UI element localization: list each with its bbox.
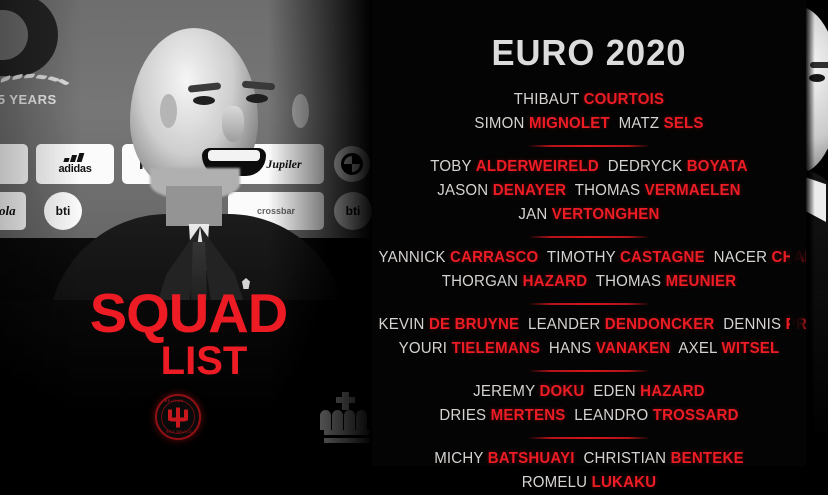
emblem-top-text: BELGIAN — [165, 399, 184, 403]
player-row: JASON DENAYER THOMAS VERMAELEN — [379, 179, 800, 203]
player-row: MICHY BATSHUAYI CHRISTIAN BENTEKE — [379, 447, 800, 471]
player-group-midfielders: KEVIN DE BRUYNE LEANDER DENDONCKER DENNI… — [372, 313, 806, 361]
player-last-name: BOYATA — [687, 158, 748, 175]
player-last-name: BENTEKE — [671, 450, 744, 467]
player-first-name: THIBAUT — [514, 91, 579, 108]
player-last-name: DE BRUYNE — [429, 316, 519, 333]
player-last-name: TIELEMANS — [452, 340, 541, 357]
player-last-name: CARRASCO — [450, 249, 538, 266]
player-first-name: JEREMY — [473, 383, 535, 400]
player-last-name: HAZARD — [523, 273, 588, 290]
player-first-name: DENNIS — [723, 316, 781, 333]
player-first-name: TOBY — [430, 158, 471, 175]
player-group-goalkeepers: THIBAUT COURTOISSIMON MIGNOLET MATZ SELS — [372, 88, 806, 136]
player-last-name: MERTENS — [491, 407, 566, 424]
group-divider — [528, 303, 650, 305]
player-last-name: DENAYER — [493, 182, 567, 199]
player-first-name: DEDRYCK — [608, 158, 683, 175]
player-first-name: CHRISTIAN — [583, 450, 666, 467]
group-divider — [528, 145, 650, 147]
squad-list-graphic: 25 YEARS adidas ING Jupiler Cola bti cro… — [0, 0, 828, 466]
player-last-name: DOKU — [539, 383, 584, 400]
player-first-name: MATZ — [619, 115, 660, 132]
player-group-wing-backs: YANNICK CARRASCO TIMOTHY CASTAGNE NACER … — [372, 246, 806, 294]
player-last-name: TROSSARD — [653, 407, 739, 424]
player-last-name: COURTOIS — [584, 91, 665, 108]
player-last-name: MEUNIER — [666, 273, 737, 290]
player-last-name: SELS — [664, 115, 704, 132]
player-groups: THIBAUT COURTOISSIMON MIGNOLET MATZ SELS… — [372, 88, 806, 495]
player-row: JEREMY DOKU EDEN HAZARD — [379, 380, 800, 404]
player-first-name: TIMOTHY — [547, 249, 616, 266]
player-row: ROMELU LUKAKU — [379, 471, 800, 495]
player-first-name: JASON — [437, 182, 488, 199]
player-first-name: EDEN — [593, 383, 636, 400]
player-last-name: DENDONCKER — [605, 316, 715, 333]
player-first-name: THOMAS — [596, 273, 661, 290]
player-first-name: JAN — [518, 206, 547, 223]
group-divider — [528, 437, 650, 439]
player-first-name: LEANDRO — [574, 407, 648, 424]
player-row: THIBAUT COURTOIS — [379, 88, 800, 112]
player-row: TOBY ALDERWEIRELD DEDRYCK BOYATA — [379, 155, 800, 179]
player-last-name: MIGNOLET — [529, 115, 610, 132]
trident-icon — [168, 406, 188, 428]
player-first-name: LEANDER — [528, 316, 600, 333]
player-first-name: DRIES — [439, 407, 486, 424]
group-divider — [528, 370, 650, 372]
player-last-name: HAZARD — [640, 383, 705, 400]
player-first-name: SIMON — [474, 115, 524, 132]
player-last-name: CASTAGNE — [620, 249, 705, 266]
player-row: JAN VERTONGHEN — [379, 203, 800, 227]
player-first-name: THOMAS — [575, 182, 640, 199]
player-first-name: MICHY — [434, 450, 483, 467]
red-devils-emblem: BELGIAN RED DEVILS — [155, 394, 201, 440]
player-group-defenders: TOBY ALDERWEIRELD DEDRYCK BOYATAJASON DE… — [372, 155, 806, 227]
player-first-name: AXEL — [678, 340, 717, 357]
player-row: THORGAN HAZARD THOMAS MEUNIER — [379, 270, 800, 294]
squad-panel: EURO 2020 THIBAUT COURTOISSIMON MIGNOLET… — [372, 0, 806, 466]
player-first-name: NACER — [714, 249, 768, 266]
player-row: SIMON MIGNOLET MATZ SELS — [379, 112, 800, 136]
player-last-name: ALDERWEIRELD — [476, 158, 599, 175]
player-row: YOURI TIELEMANS HANS VANAKEN AXEL WITSEL — [379, 337, 800, 361]
player-first-name: YOURI — [399, 340, 448, 357]
page-title: EURO 2020 — [381, 32, 798, 74]
squad-word: SQUAD — [90, 288, 325, 339]
player-first-name: KEVIN — [379, 316, 425, 333]
list-word: LIST — [92, 341, 322, 381]
emblem-bottom-text: RED DEVILS — [166, 430, 192, 434]
player-first-name: ROMELU — [522, 474, 587, 491]
player-last-name: BATSHUAYI — [488, 450, 575, 467]
player-last-name: VANAKEN — [596, 340, 671, 357]
secondary-photo-sliver — [806, 0, 828, 466]
player-row: DRIES MERTENS LEANDRO TROSSARD — [379, 404, 800, 428]
player-row: KEVIN DE BRUYNE LEANDER DENDONCKER DENNI… — [379, 313, 800, 337]
player-last-name: WITSEL — [721, 340, 779, 357]
player-last-name: LUKAKU — [592, 474, 657, 491]
squad-list-wordmark: SQUAD LIST BELGIAN RED DEVILS — [92, 288, 322, 381]
player-last-name: VERTONGHEN — [552, 206, 660, 223]
group-divider — [528, 236, 650, 238]
player-group-wingers: JEREMY DOKU EDEN HAZARDDRIES MERTENS LEA… — [372, 380, 806, 428]
player-first-name: HANS — [549, 340, 592, 357]
player-row: YANNICK CARRASCO TIMOTHY CASTAGNE NACER … — [379, 246, 800, 270]
player-first-name: YANNICK — [379, 249, 446, 266]
player-last-name: VERMAELEN — [645, 182, 741, 199]
player-first-name: THORGAN — [442, 273, 519, 290]
player-group-forwards: MICHY BATSHUAYI CHRISTIAN BENTEKEROMELU … — [372, 447, 806, 495]
